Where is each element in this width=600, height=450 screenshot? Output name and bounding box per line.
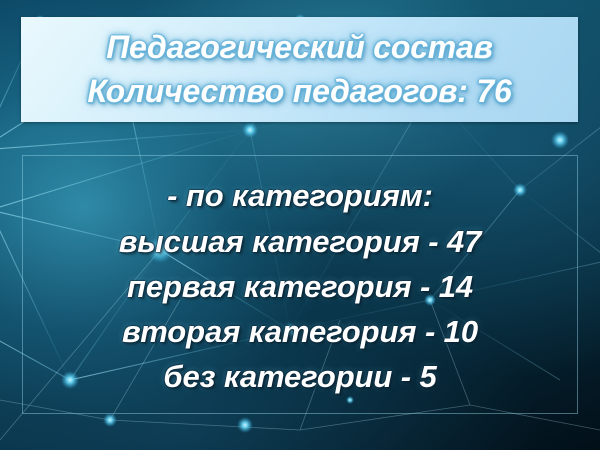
list-item-second-category: вторая категория - 10	[122, 309, 478, 354]
category-list-heading: - по категориям:	[167, 173, 433, 218]
page-title: Педагогический состав	[106, 26, 493, 70]
teacher-count-subtitle: Количество педагогов: 76	[87, 70, 511, 114]
title-panel: Педагогический состав Количество педагог…	[21, 17, 578, 122]
content-panel: - по категориям: высшая категория - 47 п…	[22, 155, 578, 414]
presentation-slide: Педагогический состав Количество педагог…	[0, 0, 600, 450]
list-item-first-category: первая категория - 14	[127, 264, 473, 309]
list-item-no-category: без категории - 5	[163, 354, 436, 399]
list-item-highest-category: высшая категория - 47	[119, 219, 482, 264]
